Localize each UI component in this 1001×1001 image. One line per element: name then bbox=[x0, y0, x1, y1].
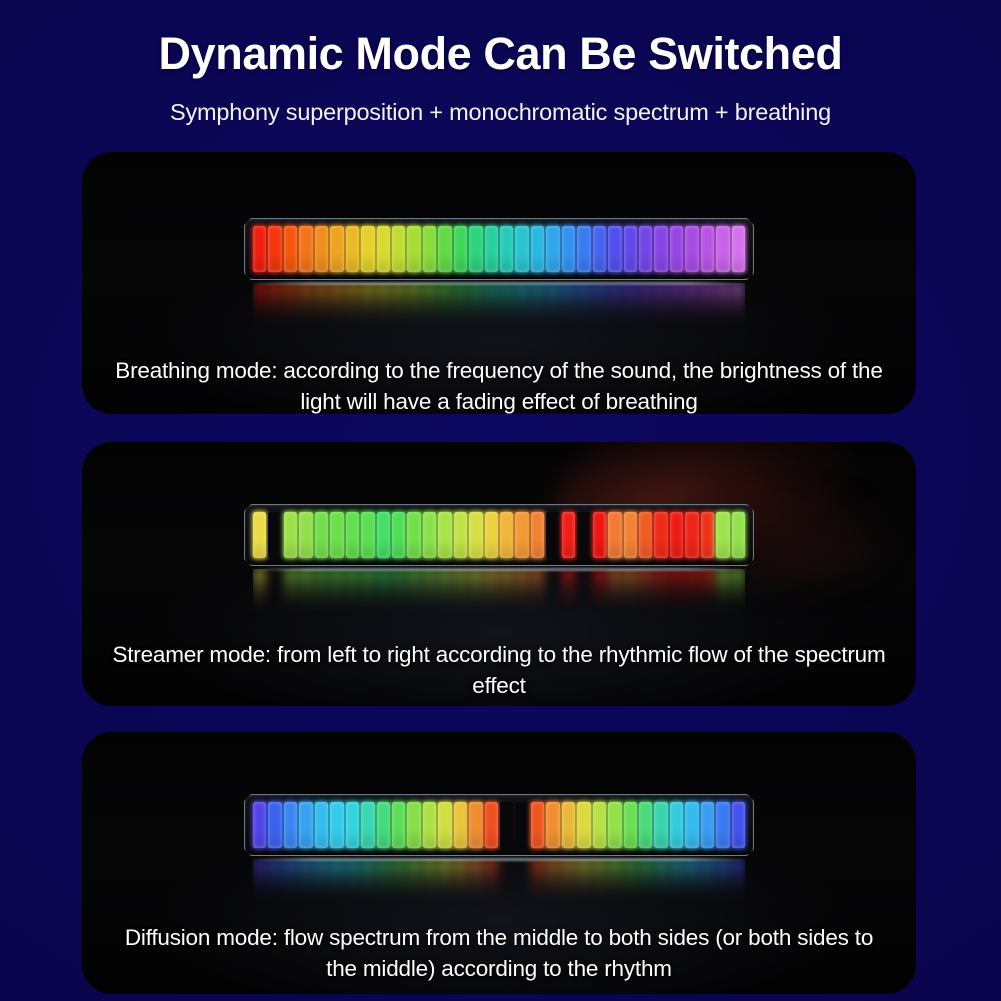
led-segment bbox=[546, 802, 559, 848]
led-segment bbox=[253, 569, 266, 615]
led-segment bbox=[593, 802, 606, 848]
led-bar-frame-2 bbox=[244, 504, 754, 566]
led-segment bbox=[685, 283, 698, 329]
led-segment bbox=[299, 512, 312, 558]
led-segment bbox=[577, 226, 590, 272]
led-segment bbox=[392, 859, 405, 905]
led-segment bbox=[531, 802, 544, 848]
led-segment bbox=[685, 569, 698, 615]
led-segment bbox=[407, 569, 420, 615]
led-segment bbox=[716, 802, 729, 848]
led-segment bbox=[423, 226, 436, 272]
card-caption-diffusion: Diffusion mode: flow spectrum from the m… bbox=[82, 922, 916, 984]
led-segment bbox=[361, 283, 374, 329]
led-segment bbox=[299, 802, 312, 848]
led-segment bbox=[485, 283, 498, 329]
led-segment bbox=[469, 569, 482, 615]
led-segment bbox=[562, 569, 575, 615]
led-segment bbox=[670, 283, 683, 329]
led-segment bbox=[593, 569, 606, 615]
led-segment bbox=[454, 802, 467, 848]
led-segment bbox=[299, 226, 312, 272]
led-segment bbox=[500, 859, 513, 905]
rgb-light-bar-device-3 bbox=[244, 794, 754, 905]
led-segment bbox=[407, 512, 420, 558]
led-segment bbox=[268, 569, 281, 615]
led-segment bbox=[608, 569, 621, 615]
led-segment bbox=[392, 802, 405, 848]
led-segment bbox=[423, 859, 436, 905]
led-segment bbox=[253, 859, 266, 905]
led-segment bbox=[438, 569, 451, 615]
led-segment bbox=[608, 283, 621, 329]
led-segment bbox=[608, 802, 621, 848]
led-segment bbox=[732, 569, 745, 615]
led-segment bbox=[284, 569, 297, 615]
led-segment bbox=[685, 859, 698, 905]
led-segment bbox=[670, 569, 683, 615]
led-segment bbox=[392, 226, 405, 272]
led-segment bbox=[346, 226, 359, 272]
led-segment bbox=[531, 283, 544, 329]
mode-card-breathing: Breathing mode: according to the frequen… bbox=[82, 152, 916, 414]
led-segment bbox=[624, 569, 637, 615]
led-segment bbox=[253, 512, 266, 558]
led-segment bbox=[284, 512, 297, 558]
led-segment bbox=[593, 512, 606, 558]
led-segment bbox=[268, 802, 281, 848]
led-segment bbox=[377, 802, 390, 848]
led-segment bbox=[485, 512, 498, 558]
led-segment bbox=[500, 226, 513, 272]
page-title: Dynamic Mode Can Be Switched bbox=[0, 26, 1001, 82]
led-segment bbox=[716, 569, 729, 615]
led-bar-frame-1 bbox=[244, 218, 754, 280]
led-segment bbox=[716, 283, 729, 329]
led-segment bbox=[377, 569, 390, 615]
led-segment bbox=[701, 512, 714, 558]
led-segment bbox=[701, 859, 714, 905]
led-segment bbox=[330, 226, 343, 272]
led-segment bbox=[469, 859, 482, 905]
led-segment bbox=[732, 802, 745, 848]
led-segment bbox=[639, 859, 652, 905]
led-segment bbox=[284, 802, 297, 848]
led-segment bbox=[562, 512, 575, 558]
led-segment bbox=[732, 859, 745, 905]
led-segment bbox=[701, 283, 714, 329]
led-segment bbox=[546, 512, 559, 558]
led-segment bbox=[670, 802, 683, 848]
led-segment bbox=[485, 569, 498, 615]
led-segment bbox=[515, 226, 528, 272]
led-segment bbox=[732, 226, 745, 272]
led-segment bbox=[624, 859, 637, 905]
led-bar-glow-3 bbox=[253, 859, 745, 905]
led-segment bbox=[268, 512, 281, 558]
led-segment bbox=[515, 802, 528, 848]
led-segment bbox=[438, 859, 451, 905]
led-segment bbox=[361, 569, 374, 615]
led-segment bbox=[654, 283, 667, 329]
led-segment bbox=[407, 802, 420, 848]
led-segment bbox=[469, 802, 482, 848]
led-segment bbox=[639, 226, 652, 272]
led-segment bbox=[716, 226, 729, 272]
led-segment bbox=[515, 569, 528, 615]
led-segment bbox=[346, 512, 359, 558]
led-segment bbox=[284, 283, 297, 329]
led-segment bbox=[315, 859, 328, 905]
led-segment bbox=[701, 569, 714, 615]
led-segment bbox=[654, 569, 667, 615]
led-segment bbox=[377, 226, 390, 272]
led-segment bbox=[654, 802, 667, 848]
led-segment bbox=[593, 226, 606, 272]
led-segment bbox=[346, 802, 359, 848]
led-segment bbox=[377, 283, 390, 329]
led-segment bbox=[670, 512, 683, 558]
led-segment bbox=[732, 283, 745, 329]
led-segment bbox=[454, 512, 467, 558]
led-segment bbox=[315, 569, 328, 615]
led-segment bbox=[330, 802, 343, 848]
led-segment bbox=[330, 569, 343, 615]
led-segment bbox=[299, 859, 312, 905]
led-segment bbox=[330, 512, 343, 558]
led-segment bbox=[299, 283, 312, 329]
led-segment bbox=[593, 859, 606, 905]
led-segment bbox=[515, 859, 528, 905]
led-segment bbox=[469, 226, 482, 272]
led-segment bbox=[346, 283, 359, 329]
led-segment bbox=[685, 802, 698, 848]
led-segment bbox=[577, 802, 590, 848]
led-segment bbox=[562, 283, 575, 329]
led-segment bbox=[423, 802, 436, 848]
led-segment bbox=[624, 512, 637, 558]
led-segment bbox=[531, 512, 544, 558]
led-segment bbox=[500, 512, 513, 558]
led-segment bbox=[407, 283, 420, 329]
led-segment bbox=[654, 859, 667, 905]
led-segment bbox=[330, 283, 343, 329]
led-segment bbox=[562, 802, 575, 848]
led-segment bbox=[515, 512, 528, 558]
led-segment bbox=[546, 859, 559, 905]
led-segment bbox=[716, 859, 729, 905]
led-segment bbox=[639, 283, 652, 329]
led-segment bbox=[639, 512, 652, 558]
led-segment bbox=[500, 569, 513, 615]
led-segment bbox=[701, 226, 714, 272]
led-segment bbox=[377, 512, 390, 558]
led-segment bbox=[268, 859, 281, 905]
led-segment bbox=[284, 859, 297, 905]
led-segment bbox=[500, 283, 513, 329]
card-caption-streamer: Streamer mode: from left to right accord… bbox=[82, 639, 916, 701]
led-segment bbox=[654, 512, 667, 558]
led-segment bbox=[608, 226, 621, 272]
led-segment bbox=[608, 512, 621, 558]
led-segment bbox=[377, 859, 390, 905]
page-subtitle: Symphony superposition + monochromatic s… bbox=[0, 96, 1001, 128]
led-segment bbox=[485, 859, 498, 905]
led-segment bbox=[485, 802, 498, 848]
led-segment bbox=[299, 569, 312, 615]
led-segment bbox=[624, 226, 637, 272]
led-segment bbox=[485, 226, 498, 272]
led-segment bbox=[346, 569, 359, 615]
led-segment bbox=[546, 569, 559, 615]
led-segment bbox=[315, 512, 328, 558]
led-segment bbox=[361, 859, 374, 905]
led-segment bbox=[438, 283, 451, 329]
led-segment bbox=[284, 226, 297, 272]
led-segment bbox=[438, 226, 451, 272]
led-segment bbox=[315, 226, 328, 272]
led-segment bbox=[639, 802, 652, 848]
rgb-light-bar-device-2 bbox=[244, 504, 754, 615]
led-segment bbox=[392, 512, 405, 558]
led-segment bbox=[624, 802, 637, 848]
led-segment bbox=[253, 802, 266, 848]
led-segment bbox=[500, 802, 513, 848]
led-segment bbox=[701, 802, 714, 848]
led-bar-glow-1 bbox=[253, 283, 745, 329]
led-segment bbox=[268, 283, 281, 329]
header: Dynamic Mode Can Be Switched Symphony su… bbox=[0, 0, 1001, 150]
led-segment bbox=[454, 283, 467, 329]
led-segment bbox=[330, 859, 343, 905]
led-segment bbox=[346, 859, 359, 905]
led-bar-glow-2 bbox=[253, 569, 745, 615]
led-segment bbox=[268, 226, 281, 272]
led-segment bbox=[685, 226, 698, 272]
led-segment bbox=[315, 802, 328, 848]
led-segment bbox=[253, 283, 266, 329]
led-segment bbox=[423, 569, 436, 615]
led-segment bbox=[469, 283, 482, 329]
led-segment bbox=[531, 569, 544, 615]
led-segment bbox=[685, 512, 698, 558]
led-segment bbox=[392, 569, 405, 615]
led-segment bbox=[639, 569, 652, 615]
led-segment bbox=[577, 283, 590, 329]
led-segment bbox=[361, 226, 374, 272]
led-segment bbox=[593, 283, 606, 329]
mode-card-streamer: Streamer mode: from left to right accord… bbox=[82, 442, 916, 706]
led-segment bbox=[608, 859, 621, 905]
product-infographic: Dynamic Mode Can Be Switched Symphony su… bbox=[0, 0, 1001, 1001]
card-caption-breathing: Breathing mode: according to the frequen… bbox=[82, 355, 916, 414]
led-segment bbox=[654, 226, 667, 272]
led-segment bbox=[531, 226, 544, 272]
led-segment bbox=[562, 226, 575, 272]
rgb-light-bar-device-1 bbox=[244, 218, 754, 329]
led-bar-frame-3 bbox=[244, 794, 754, 856]
led-segment bbox=[716, 512, 729, 558]
led-segment bbox=[577, 569, 590, 615]
led-segment bbox=[577, 859, 590, 905]
led-segment bbox=[423, 283, 436, 329]
led-segment bbox=[454, 569, 467, 615]
led-segment bbox=[469, 512, 482, 558]
led-segment bbox=[670, 226, 683, 272]
mode-card-diffusion: Diffusion mode: flow spectrum from the m… bbox=[82, 732, 916, 994]
led-segment bbox=[515, 283, 528, 329]
led-segment bbox=[392, 283, 405, 329]
led-segment bbox=[454, 226, 467, 272]
led-segment bbox=[732, 512, 745, 558]
led-segment bbox=[423, 512, 436, 558]
led-segment bbox=[361, 512, 374, 558]
led-segment bbox=[361, 802, 374, 848]
led-segment bbox=[531, 859, 544, 905]
led-segment bbox=[546, 226, 559, 272]
led-segment bbox=[315, 283, 328, 329]
led-segment bbox=[407, 859, 420, 905]
led-segment bbox=[407, 226, 420, 272]
led-segment bbox=[438, 802, 451, 848]
led-segment bbox=[624, 283, 637, 329]
led-segment bbox=[577, 512, 590, 558]
led-segment bbox=[438, 512, 451, 558]
led-segment bbox=[670, 859, 683, 905]
led-segment bbox=[253, 226, 266, 272]
led-segment bbox=[454, 859, 467, 905]
led-segment bbox=[546, 283, 559, 329]
led-segment bbox=[562, 859, 575, 905]
